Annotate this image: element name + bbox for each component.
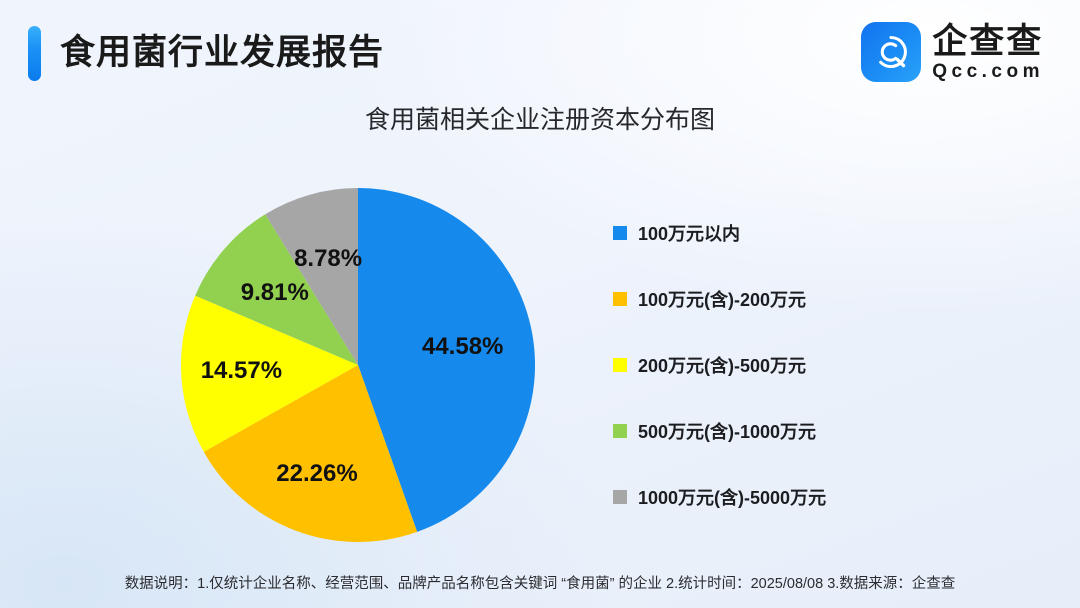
footer: 数据说明：1.仅统计企业名称、经营范围、品牌产品名称包含关键词 “食用菌” 的企…	[0, 556, 1080, 608]
legend-swatch-icon	[613, 424, 627, 438]
legend-item-label: 100万元(含)-200万元	[638, 286, 806, 312]
chart-legend: 100万元以内100万元(含)-200万元200万元(含)-500万元500万元…	[613, 200, 983, 530]
brand-name: 企查查	[932, 24, 1044, 59]
pie-chart: 44.58%22.26%14.57%9.81%8.78%	[181, 188, 535, 542]
title-accent-bar	[28, 26, 41, 81]
legend-swatch-icon	[613, 226, 627, 240]
pie-slice-label: 8.78%	[294, 245, 362, 273]
legend-swatch-icon	[613, 292, 627, 306]
legend-item-label: 500万元(含)-1000万元	[638, 418, 816, 444]
page-title: 食用菌行业发展报告	[60, 25, 384, 80]
pie-slice-label: 14.57%	[201, 357, 282, 385]
chart-title: 食用菌相关企业注册资本分布图	[0, 100, 1080, 136]
legend-item[interactable]: 200万元(含)-500万元	[613, 332, 983, 398]
qcc-logo-icon	[861, 22, 921, 82]
report-slide: 食用菌行业发展报告 企查查 Qcc.com 食用菌相关企业注册资本分布图 44.…	[0, 0, 1080, 608]
legend-swatch-icon	[613, 490, 627, 504]
brand-domain: Qcc.com	[932, 62, 1044, 81]
header: 食用菌行业发展报告 企查查 Qcc.com	[0, 0, 1080, 100]
pie-slice-label: 44.58%	[422, 333, 503, 361]
legend-item[interactable]: 1000万元(含)-5000万元	[613, 464, 983, 530]
legend-item-label: 200万元(含)-500万元	[638, 352, 806, 378]
pie-slice-label: 9.81%	[241, 279, 309, 307]
pie-slice-label: 22.26%	[276, 460, 357, 488]
legend-item[interactable]: 100万元以内	[613, 200, 983, 266]
brand-logo: 企查查 Qcc.com	[861, 22, 1044, 82]
data-note: 数据说明：1.仅统计企业名称、经营范围、品牌产品名称包含关键词 “食用菌” 的企…	[125, 572, 956, 593]
brand-text: 企查查 Qcc.com	[932, 24, 1044, 81]
legend-swatch-icon	[613, 358, 627, 372]
legend-item-label: 100万元以内	[638, 220, 740, 246]
legend-item[interactable]: 500万元(含)-1000万元	[613, 398, 983, 464]
legend-item[interactable]: 100万元(含)-200万元	[613, 266, 983, 332]
legend-item-label: 1000万元(含)-5000万元	[638, 484, 826, 510]
